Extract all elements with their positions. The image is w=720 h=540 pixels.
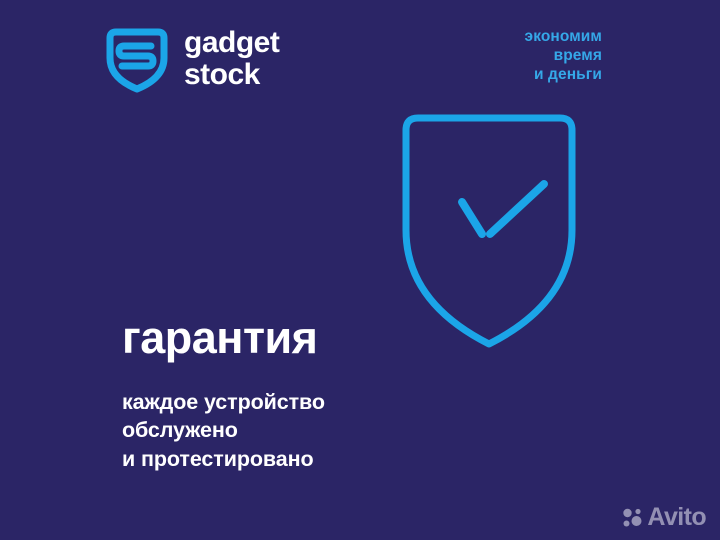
- brand-name-line-1: gadget: [184, 27, 279, 59]
- avito-wordmark: Avito: [647, 505, 706, 530]
- avito-watermark: Avito: [621, 505, 706, 530]
- promo-banner: gadget stock экономим время и деньги гар…: [0, 0, 720, 540]
- avito-dots-icon: [621, 507, 643, 529]
- tagline-line-3: и деньги: [525, 66, 602, 85]
- brand-name-line-2: stock: [184, 59, 279, 91]
- page-title: гарантия: [122, 314, 452, 362]
- tagline-line-1: экономим: [525, 28, 602, 47]
- body-copy: каждое устройство обслужено и протестиро…: [122, 388, 452, 474]
- tagline-line-2: время: [525, 47, 602, 66]
- body-copy-line-2: обслужено: [122, 416, 452, 445]
- shield-logo-icon: [104, 24, 170, 94]
- tagline: экономим время и деньги: [525, 28, 602, 85]
- brand-lockup: gadget stock: [104, 24, 279, 94]
- body-copy-line-3: и протестировано: [122, 445, 452, 474]
- body-copy-line-1: каждое устройство: [122, 388, 452, 417]
- copy-block: гарантия каждое устройство обслужено и п…: [122, 314, 452, 474]
- brand-name: gadget stock: [184, 27, 279, 92]
